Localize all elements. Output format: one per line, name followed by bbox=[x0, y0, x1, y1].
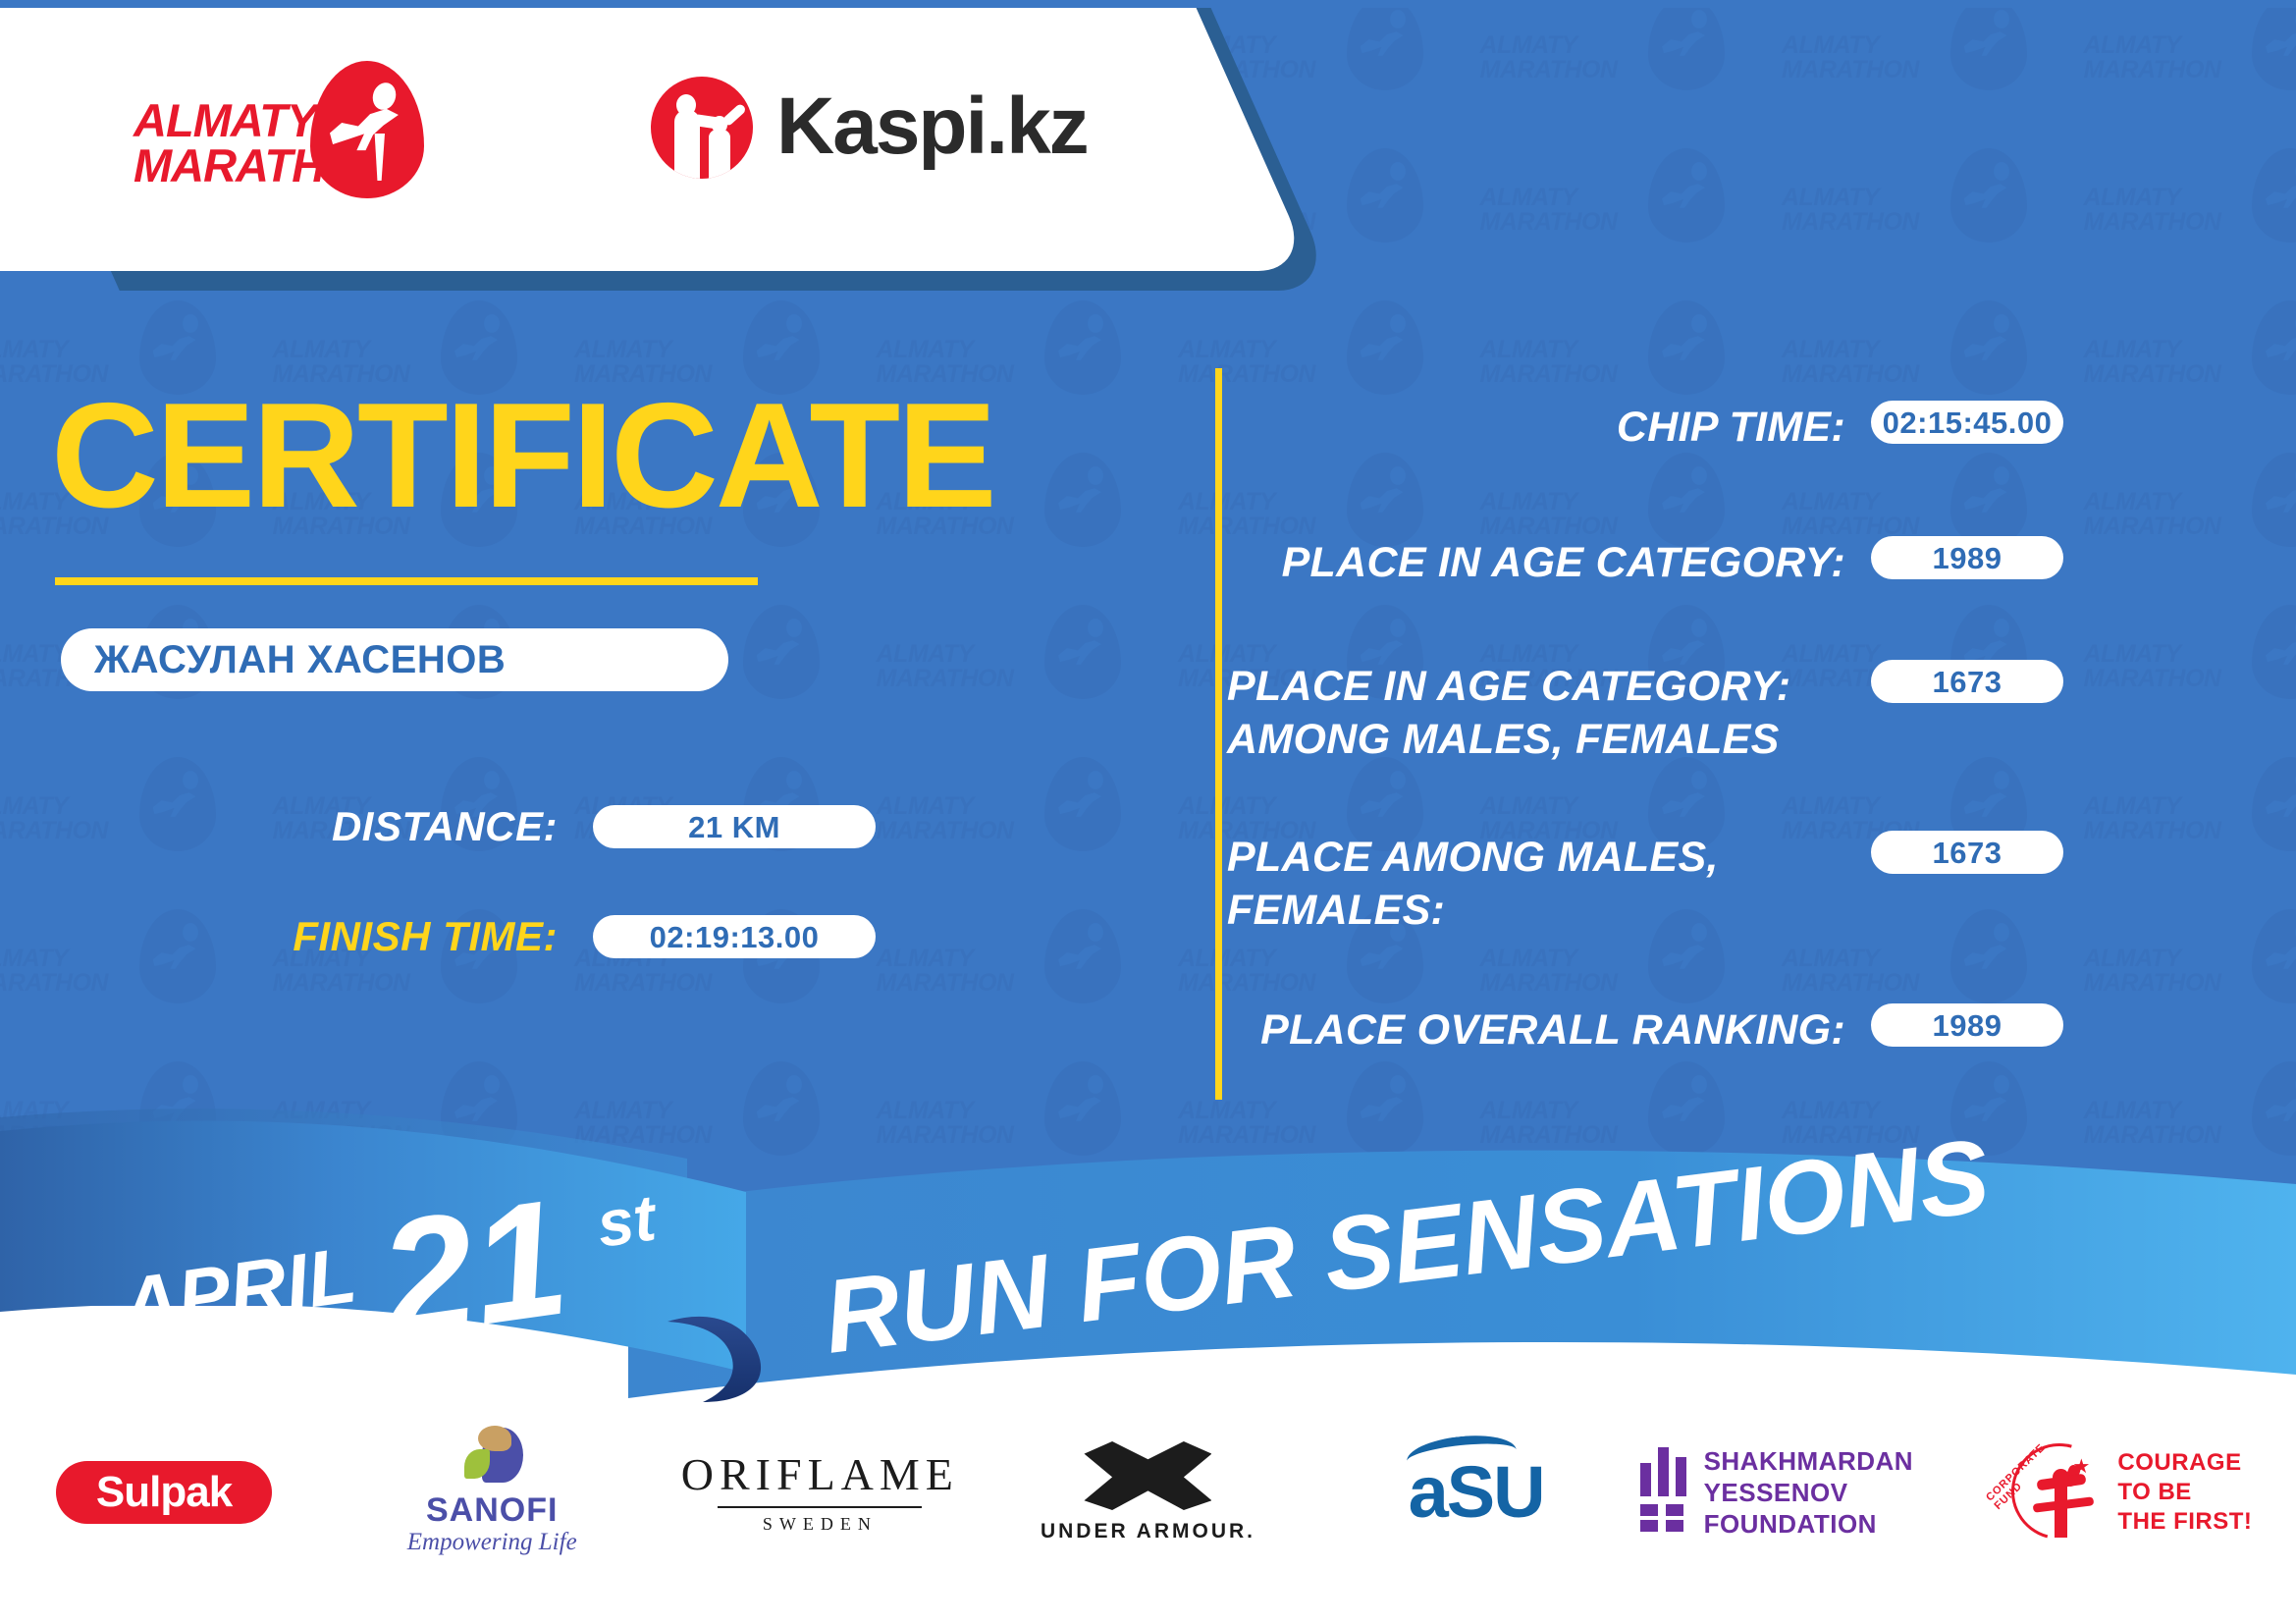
result-value: 02:15:45.00 bbox=[1883, 407, 2053, 438]
result-label: PLACE OVERALL RANKING: bbox=[1158, 1003, 1845, 1056]
sponsor-logo-asu: aSU bbox=[1312, 1404, 1640, 1581]
result-label-line1: CHIP TIME: bbox=[1158, 401, 1845, 454]
yessenov-line1: SHAKHMARDAN YESSENOV bbox=[1704, 1445, 1968, 1508]
kaspi-people-circle-icon bbox=[651, 77, 753, 179]
event-ribbon: APRIL 21 st RUN FOR SENSATIONS bbox=[0, 1090, 2296, 1414]
header: ALMATY MARATHON Kaspi.k bbox=[0, 0, 2296, 295]
header-logos: ALMATY MARATHON Kaspi.k bbox=[0, 0, 1178, 271]
certificate-page: ALMATYMARATHONALMATYMARATHONALMATYMARATH… bbox=[0, 0, 2296, 1624]
distance-value: 21 KM bbox=[688, 812, 780, 842]
sponsor-logo-under-armour: UNDER ARMOUR. bbox=[984, 1404, 1311, 1581]
oriflame-rule bbox=[718, 1506, 922, 1508]
participant-name-value: ЖАСУЛАН ХАСЕНОВ bbox=[94, 640, 506, 679]
sponsor-logo-sulpak: Sulpak bbox=[0, 1404, 328, 1581]
result-row: PLACE IN AGE CATEGORY: 1989 bbox=[1158, 536, 2063, 589]
result-value-pill: 1673 bbox=[1871, 660, 2063, 703]
result-row: PLACE AMONG MALES, FEMALES: 1673 bbox=[1158, 831, 2063, 937]
ribbon-svg: APRIL 21 st RUN FOR SENSATIONS bbox=[0, 1090, 2296, 1414]
under-armour-wordmark: UNDER ARMOUR. bbox=[1041, 1520, 1255, 1543]
result-row: CHIP TIME: 02:15:45.00 bbox=[1158, 401, 2063, 454]
finish-time-value: 02:19:13.00 bbox=[650, 922, 820, 952]
sponsor-logo-oriflame: ORIFLAME SWEDEN bbox=[656, 1404, 984, 1581]
kaspi-wordmark: Kaspi.kz bbox=[776, 84, 1088, 169]
yessenov-block: SHAKHMARDAN YESSENOV FOUNDATION bbox=[1640, 1445, 1968, 1540]
yessenov-bars-icon bbox=[1640, 1447, 1686, 1538]
result-label-line1: PLACE OVERALL RANKING: bbox=[1158, 1003, 1845, 1056]
finish-time-label: FINISH TIME: bbox=[273, 915, 558, 958]
runner-leg-shape bbox=[371, 134, 385, 181]
sponsor-logo-yessenov-foundation: SHAKHMARDAN YESSENOV FOUNDATION bbox=[1640, 1404, 1968, 1581]
title-underline bbox=[55, 577, 758, 585]
sanofi-wordmark: SANOFI bbox=[407, 1492, 577, 1528]
runner-head-shape bbox=[369, 80, 400, 113]
sanofi-mark-icon bbox=[456, 1428, 527, 1489]
result-value-pill: 1673 bbox=[1871, 831, 2063, 874]
result-label: PLACE IN AGE CATEGORY: bbox=[1158, 536, 1845, 589]
result-value: 1989 bbox=[1933, 543, 2002, 573]
courage-block: CORPORATE FUND ★ COURAGE TO BE THE FIRST… bbox=[2011, 1439, 2252, 1545]
result-label-line1: PLACE IN AGE CATEGORY: bbox=[1227, 660, 1845, 713]
under-armour-icon bbox=[1084, 1441, 1211, 1510]
distance-label: DISTANCE: bbox=[273, 805, 558, 848]
result-value: 1673 bbox=[1933, 667, 2002, 697]
courage-line1: COURAGE bbox=[2117, 1448, 2252, 1478]
runner-body-shape bbox=[330, 108, 404, 151]
courage-line3: THE FIRST! bbox=[2117, 1507, 2252, 1537]
kaspi-child-body bbox=[709, 130, 730, 179]
courage-wordmark: COURAGE TO BE THE FIRST! bbox=[2117, 1448, 2252, 1537]
finish-time-value-pill: 02:19:13.00 bbox=[593, 915, 876, 958]
oriflame-block: ORIFLAME SWEDEN bbox=[681, 1451, 959, 1535]
result-label: PLACE IN AGE CATEGORY: AMONG MALES, FEMA… bbox=[1158, 660, 1845, 766]
sponsor-bar: Sulpak SANOFI Empowering Life ORIFLAME S… bbox=[0, 1404, 2296, 1581]
sponsor-logo-courage-fund: CORPORATE FUND ★ COURAGE TO BE THE FIRST… bbox=[1968, 1404, 2296, 1581]
result-row: PLACE IN AGE CATEGORY: AMONG MALES, FEMA… bbox=[1158, 660, 2063, 766]
result-value-pill: 02:15:45.00 bbox=[1871, 401, 2063, 444]
result-label-line2: FEMALES: bbox=[1227, 884, 1845, 937]
sulpak-wordmark: Sulpak bbox=[96, 1471, 232, 1514]
yessenov-line2: FOUNDATION bbox=[1704, 1508, 1968, 1540]
result-label-line2: AMONG MALES, FEMALES bbox=[1227, 713, 1845, 766]
result-value: 1673 bbox=[1933, 838, 2002, 868]
result-row: PLACE OVERALL RANKING: 1989 bbox=[1158, 1003, 2063, 1056]
result-label: CHIP TIME: bbox=[1158, 401, 1845, 454]
under-armour-block: UNDER ARMOUR. bbox=[1041, 1441, 1255, 1543]
page-title: CERTIFICATE bbox=[51, 381, 994, 530]
yessenov-wordmark: SHAKHMARDAN YESSENOV FOUNDATION bbox=[1704, 1445, 1968, 1540]
sponsor-logo-sanofi: SANOFI Empowering Life bbox=[328, 1404, 656, 1581]
kaspi-logo: Kaspi.kz bbox=[651, 71, 1073, 185]
courage-emblem-icon: CORPORATE FUND ★ bbox=[2011, 1439, 2109, 1545]
result-value-pill: 1989 bbox=[1871, 536, 2063, 579]
sanofi-tagline: Empowering Life bbox=[407, 1528, 577, 1557]
result-value-pill: 1989 bbox=[1871, 1003, 2063, 1047]
courage-figure-body bbox=[2055, 1485, 2067, 1538]
ribbon-day: 21 bbox=[367, 1164, 577, 1373]
courage-line2: TO BE bbox=[2117, 1478, 2252, 1507]
finish-time-row: FINISH TIME: 02:19:13.00 bbox=[273, 915, 876, 958]
runner-drop-icon bbox=[310, 61, 424, 198]
distance-value-pill: 21 KM bbox=[593, 805, 876, 848]
almaty-marathon-logo: ALMATY MARATHON bbox=[116, 61, 450, 198]
asu-block: aSU bbox=[1409, 1456, 1544, 1529]
asu-mark: aSU bbox=[1409, 1456, 1544, 1529]
participant-name-field: ЖАСУЛАН ХАСЕНОВ bbox=[61, 628, 728, 691]
oriflame-tagline: SWEDEN bbox=[681, 1514, 959, 1535]
sanofi-shape-tan bbox=[478, 1426, 511, 1451]
result-label: PLACE AMONG MALES, FEMALES: bbox=[1158, 831, 1845, 937]
result-label-line1: PLACE AMONG MALES, bbox=[1227, 831, 1845, 884]
sulpak-badge: Sulpak bbox=[56, 1461, 272, 1524]
sanofi-block: SANOFI Empowering Life bbox=[407, 1428, 577, 1557]
courage-arc-text: CORPORATE FUND bbox=[1985, 1430, 2118, 1563]
oriflame-wordmark: ORIFLAME bbox=[681, 1451, 959, 1498]
result-label-line1: PLACE IN AGE CATEGORY: bbox=[1158, 536, 1845, 589]
result-value: 1989 bbox=[1933, 1010, 2002, 1041]
distance-row: DISTANCE: 21 KM bbox=[273, 805, 876, 848]
